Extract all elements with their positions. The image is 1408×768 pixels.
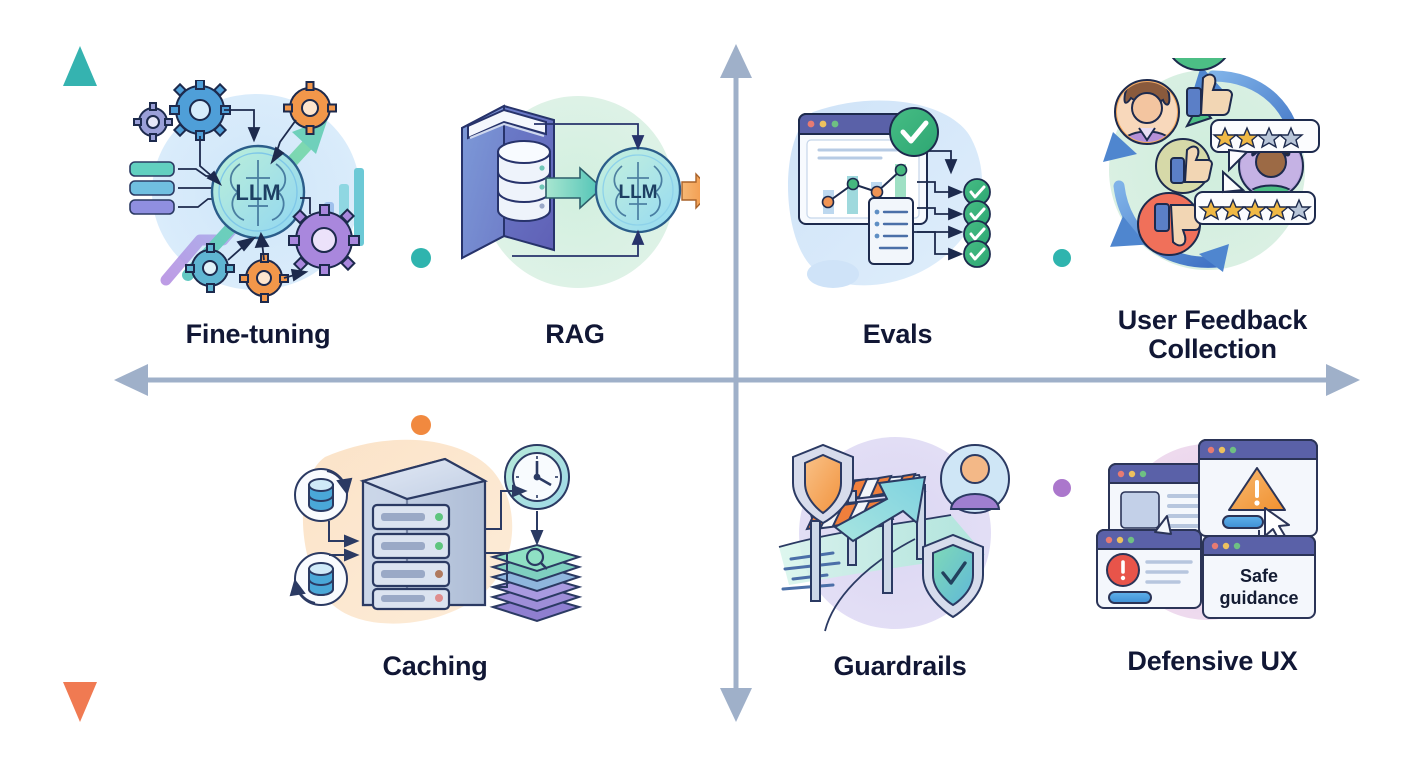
node-label-caching: Caching (285, 652, 585, 681)
node-caching[interactable]: Caching (285, 437, 585, 697)
safe-guidance-text-line2: guidance (1219, 588, 1298, 608)
node-user-feedback-collection[interactable]: User Feedback Collection (1095, 58, 1330, 358)
node-guardrails[interactable]: Guardrails (775, 435, 1025, 695)
node-fine-tuning[interactable]: LLM (128, 80, 388, 370)
svg-text:LLM: LLM (618, 182, 657, 203)
safe-guidance-text-line1: Safe (1240, 566, 1278, 586)
warning-windows-icon: Safe guidance (1095, 432, 1330, 637)
vertical-gradient-axis (63, 46, 97, 722)
node-label-defensive-ux: Defensive UX (1095, 647, 1330, 676)
node-label-rag: RAG (450, 320, 700, 349)
node-label-user-feedback-collection: User Feedback Collection (1095, 306, 1330, 364)
dashboard-checkmarks-icon (785, 96, 1010, 301)
connector-userfeedback-defensiveux (1053, 249, 1071, 497)
connector-finetuning-caching (411, 248, 431, 435)
diagram-canvas: LLM (0, 0, 1408, 768)
node-label-evals: Evals (785, 320, 1010, 349)
node-defensive-ux[interactable]: Safe guidance Defensive UX (1095, 432, 1330, 692)
barrier-shield-icon (775, 435, 1025, 640)
vertical-divider-axis (720, 44, 752, 722)
node-rag[interactable]: LLM RAG (450, 86, 700, 370)
llm-gears-icon: LLM (128, 80, 388, 310)
book-database-llm-icon: LLM (450, 86, 700, 306)
svg-text:LLM: LLM (235, 180, 280, 205)
node-label-guardrails: Guardrails (775, 652, 1025, 681)
node-label-fine-tuning: Fine-tuning (128, 320, 388, 349)
feedback-loop-icon (1095, 58, 1330, 298)
node-evals[interactable]: Evals (785, 96, 1010, 370)
server-cache-icon (285, 437, 585, 637)
